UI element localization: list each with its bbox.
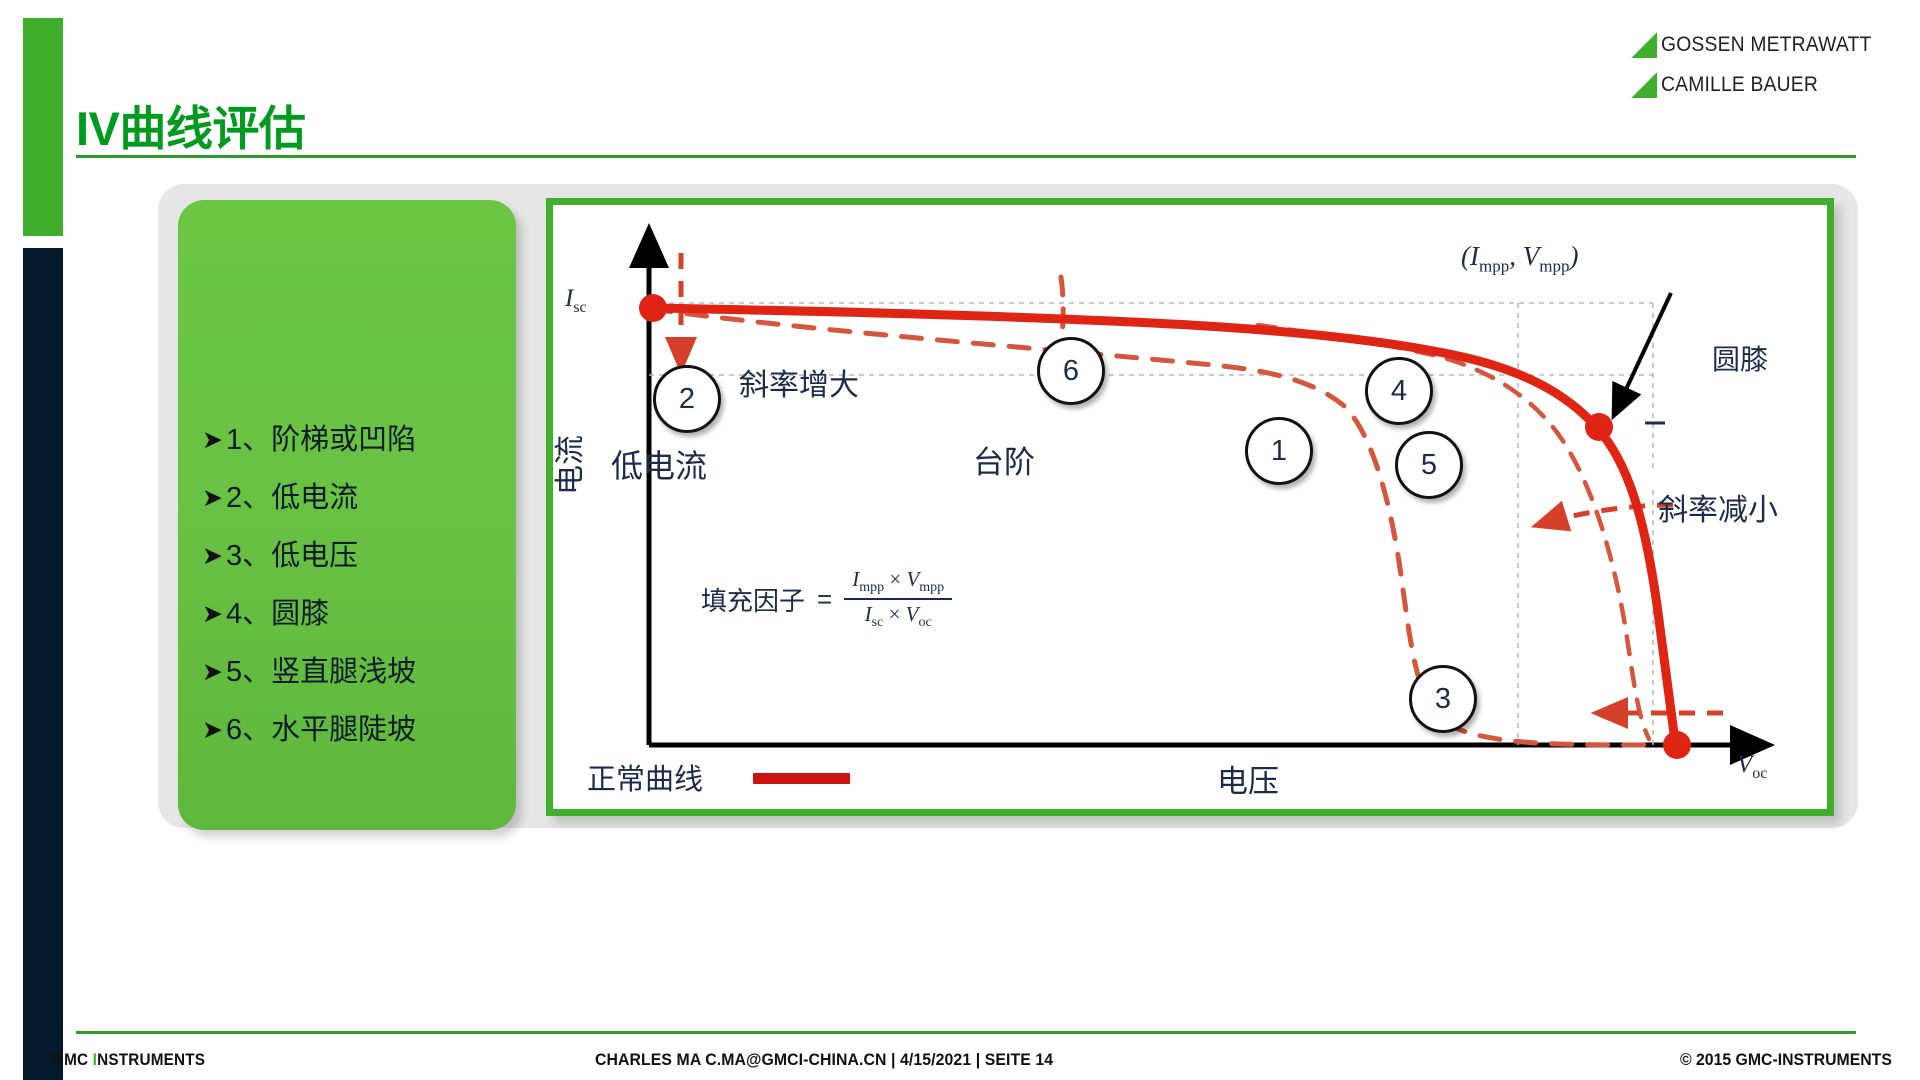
formula-denominator: Isc × Voc	[857, 600, 940, 631]
brand-name-camille: CAMILLE BAUER	[1661, 73, 1818, 97]
legend-swatch-normal-curve	[753, 773, 850, 784]
callout-1[interactable]: 1	[1245, 417, 1313, 485]
voc-point	[1663, 731, 1691, 759]
list-item-label: 5、竖直腿浅坡	[226, 644, 416, 701]
list-item: ➤ 4、圆膝	[202, 586, 506, 644]
list-item: ➤ 1、阶梯或凹陷	[202, 412, 506, 470]
brand-logo: GOSSEN METRAWATT CAMILLE BAUER	[1631, 32, 1890, 98]
brand-row-camille: CAMILLE BAUER	[1631, 72, 1832, 98]
isc-point	[639, 294, 667, 322]
x-axis-label: 电压	[1217, 756, 1279, 801]
round-knee-label: 圆膝	[1712, 338, 1768, 378]
callout-2[interactable]: 2	[653, 365, 721, 433]
bullet-list: ➤ 1、阶梯或凹陷 ➤ 2、低电流 ➤ 3、低电压 ➤ 4、圆膝 ➤ 5、竖直腿…	[202, 412, 506, 760]
y-axis-label: 电流	[545, 435, 589, 495]
arrow-bullet-icon: ➤	[202, 702, 223, 759]
title-divider	[76, 155, 1856, 158]
brand-row-gossen: GOSSEN METRAWATT	[1631, 32, 1890, 58]
callout-5[interactable]: 5	[1395, 431, 1463, 499]
list-item-label: 4、圆膝	[226, 586, 329, 643]
list-item-label: 1、阶梯或凹陷	[226, 412, 416, 469]
list-item: ➤ 5、竖直腿浅坡	[202, 644, 506, 702]
list-item: ➤ 2、低电流	[202, 470, 506, 528]
callout-4[interactable]: 4	[1365, 357, 1433, 425]
mpp-label: (Impp, Vmpp)	[1461, 241, 1578, 276]
list-item-label: 3、低电压	[226, 528, 358, 585]
isc-label: Isc	[565, 285, 587, 317]
voc-label: Voc	[1737, 751, 1767, 783]
footer-brand: GMC INSTRUMENTS	[52, 1050, 205, 1070]
iv-curve-chart: Isc Voc (Impp, Vmpp) 圆膝 斜率增大 斜率减小 低电流 台阶…	[546, 198, 1834, 816]
formula-fraction: Impp × Vmpp Isc × Voc	[844, 567, 952, 631]
left-accent-bar-green	[23, 18, 63, 236]
legend-label-normal-curve: 正常曲线	[587, 756, 703, 798]
footer-brand-gmc: GMC	[52, 1050, 93, 1069]
footer-brand-rest: NSTRUMENTS	[97, 1050, 205, 1069]
list-item: ➤ 3、低电压	[202, 528, 506, 586]
mpp-point	[1585, 413, 1613, 441]
left-accent-bar-dark	[23, 248, 63, 1080]
footer-meta: CHARLES MA C.MA@GMCI-CHINA.CN | 4/15/202…	[595, 1050, 1053, 1070]
list-item-label: 2、低电流	[226, 470, 358, 527]
callout-3[interactable]: 3	[1409, 665, 1477, 733]
formula-left-label: 填充因子	[701, 581, 805, 618]
slope-decrease-label: 斜率减小	[1658, 485, 1778, 529]
fill-factor-formula: 填充因子 = Impp × Vmpp Isc × Voc	[701, 567, 952, 631]
page-title: IV曲线评估	[76, 90, 305, 159]
arrow-bullet-icon: ➤	[202, 470, 223, 527]
low-current-label: 低电流	[611, 441, 707, 487]
arrow-bullet-icon: ➤	[202, 528, 223, 585]
step-label: 台阶	[973, 437, 1035, 482]
footer-divider	[76, 1031, 1856, 1034]
formula-numerator: Impp × Vmpp	[844, 567, 952, 598]
chart-graphics	[553, 205, 1827, 809]
green-triangle-icon	[1631, 32, 1657, 58]
chart-inner: Isc Voc (Impp, Vmpp) 圆膝 斜率增大 斜率减小 低电流 台阶…	[553, 205, 1827, 809]
arrow-bullet-icon: ➤	[202, 412, 223, 469]
arrow-bullet-icon: ➤	[202, 644, 223, 701]
formula-equals: =	[817, 584, 832, 615]
arrow-bullet-icon: ➤	[202, 586, 223, 643]
callout-6[interactable]: 6	[1037, 337, 1105, 405]
list-item: ➤ 6、水平腿陡坡	[202, 702, 506, 760]
green-triangle-icon	[1631, 72, 1657, 98]
brand-name-gossen: GOSSEN METRAWATT	[1661, 33, 1871, 57]
slope-increase-label: 斜率增大	[739, 360, 859, 404]
list-item-label: 6、水平腿陡坡	[226, 702, 416, 759]
footer-copyright: © 2015 GMC-INSTRUMENTS	[1680, 1050, 1892, 1070]
bullet-panel: ➤ 1、阶梯或凹陷 ➤ 2、低电流 ➤ 3、低电压 ➤ 4、圆膝 ➤ 5、竖直腿…	[178, 200, 516, 830]
mpp-arrow	[1615, 293, 1671, 413]
